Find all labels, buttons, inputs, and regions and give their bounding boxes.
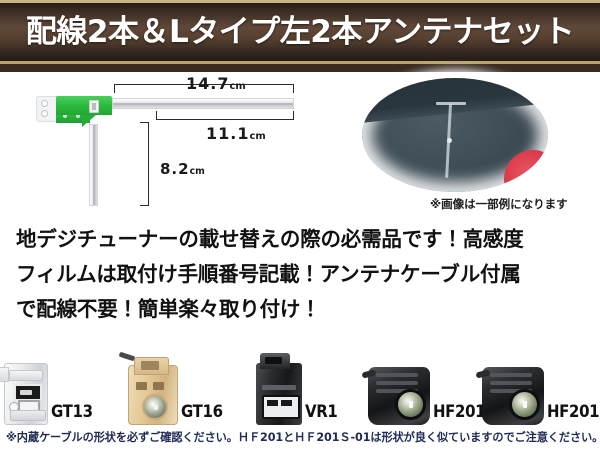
vr1-connector-image: [256, 363, 302, 425]
dimension-tick-right-total: [293, 84, 294, 93]
antenna-film-horizontal-arm: [112, 98, 294, 109]
connector-row: GT13 GT16 VR1: [0, 333, 600, 425]
connector-gt16: GT16: [128, 365, 228, 425]
sticker-bottom-number: 9: [514, 175, 525, 190]
dimension-tick-right-arm: [293, 111, 294, 120]
antenna-film-vertical-arm: [89, 124, 98, 206]
gt13-connector-image: [4, 363, 48, 425]
connector-hf201s01: HF201S-01: [482, 367, 600, 425]
photo-caption: ※画像は一部例になります: [430, 196, 568, 212]
dimension-label-total-width: 14.7cm: [186, 74, 246, 93]
footer-warning-note: ※内蔵ケーブルの形状を必ずご確認ください。ＨＦ201とＨＦ201Ｓ-01は形状が…: [6, 429, 598, 445]
antenna-film-green-taper: [82, 115, 96, 127]
mount-hole-icon: [41, 110, 48, 117]
page-title: 配線2本＆Lタイプ左2本アンテナセット: [26, 17, 574, 48]
installed-antenna-dot: [447, 138, 452, 143]
connector-label: VR1: [305, 404, 337, 425]
connector-label: GT16: [181, 404, 223, 425]
antenna-mount-pad: [36, 96, 58, 122]
description-line: で配線不要！簡単楽々取り付け！: [16, 292, 588, 327]
connector-vr1: VR1: [256, 363, 342, 425]
connector-label: HF201S-01: [547, 404, 600, 425]
description-line: 地デジチューナーの載せ替えの際の必需品です！高感度: [16, 222, 588, 257]
antenna-film-green-body: [56, 96, 112, 115]
connector-label: HF201: [433, 404, 485, 425]
dimension-tick-left-arm: [156, 111, 157, 120]
antenna-film-chip: [89, 100, 99, 113]
product-banner: 配線2本＆Lタイプ左2本アンテナセット 14.7cm 11.1cm 8.2cm: [0, 0, 600, 450]
inspection-sticker: 10 9: [504, 150, 548, 192]
hf201-connector-image: [368, 367, 430, 425]
dimension-label-height: 8.2cm: [160, 160, 205, 178]
description-line: フィルムは取付け手順番号記載！アンテナケーブル付属: [16, 257, 588, 292]
mount-hole-icon: [41, 100, 48, 107]
header-banner: 配線2本＆Lタイプ左2本アンテナセット: [0, 0, 600, 64]
description-block: 地デジチューナーの載せ替えの際の必需品です！高感度 フィルムは取付け手順番号記載…: [16, 222, 588, 327]
dimension-label-arm-width: 11.1cm: [206, 124, 266, 143]
connector-label: GT13: [51, 404, 93, 425]
gt16-connector-image: [128, 365, 178, 425]
sticker-top-number: 10: [530, 163, 548, 181]
dimension-tick-bottom-height: [140, 205, 149, 206]
windshield-photo-oval: 10 9: [362, 78, 548, 192]
antenna-diagram: 14.7cm 11.1cm 8.2cm: [0, 74, 310, 214]
windshield-photo: 10 9 ※画像は一部例になります: [318, 76, 586, 194]
connector-gt13: GT13: [4, 363, 98, 425]
dimension-tick-top-height: [140, 122, 149, 123]
hf201s01-connector-image: [482, 367, 544, 425]
connector-hf201: HF201: [368, 367, 492, 425]
dimension-line-height: [148, 122, 149, 206]
dimension-tick-left-total: [114, 84, 115, 93]
dimension-line-arm-width: [156, 119, 294, 120]
